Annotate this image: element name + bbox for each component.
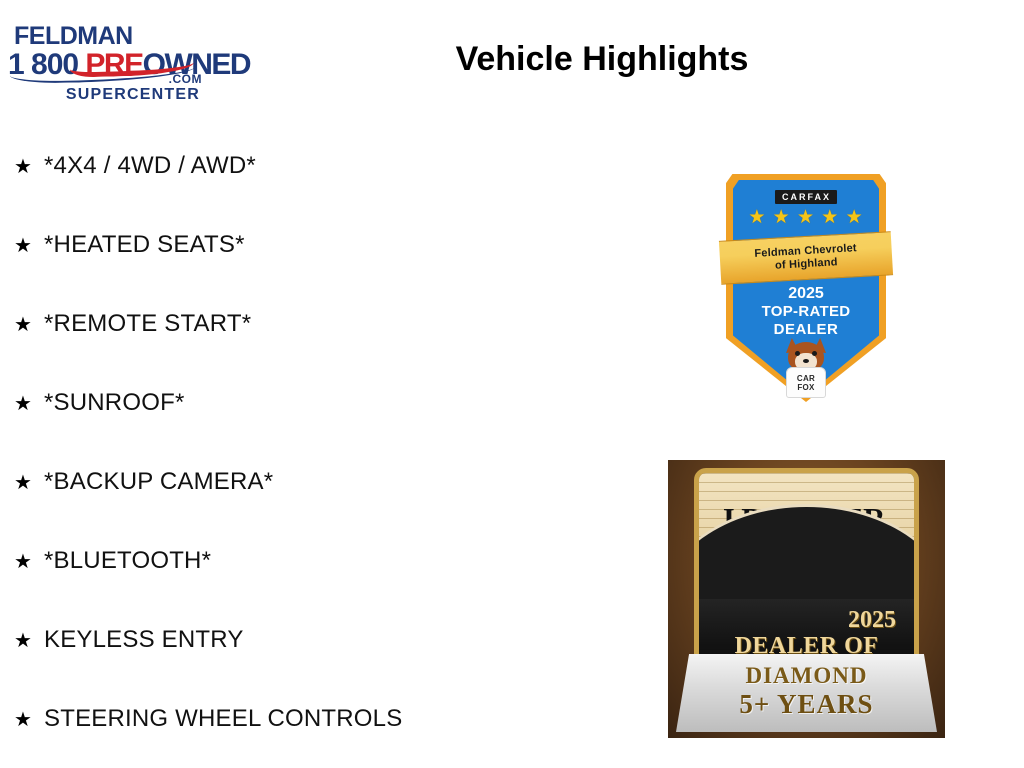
carfax-award-line2: DEALER xyxy=(726,321,886,339)
list-item-label: *HEATED SEATS* xyxy=(44,231,245,259)
jdpower-base-line1: DIAMOND xyxy=(676,663,937,689)
carfax-dealer-name-line2: of Highland xyxy=(775,256,838,272)
star-icon: ★ xyxy=(14,312,44,337)
vehicle-highlights-list: ★ *4X4 / 4WD / AWD* ★ *HEATED SEATS* ★ *… xyxy=(14,152,634,768)
star-icon: ★ xyxy=(14,470,44,495)
logo-supercenter-text: SUPERCENTER xyxy=(66,86,200,104)
jdpower-curve-divider xyxy=(699,507,914,605)
list-item: ★ KEYLESS ENTRY xyxy=(14,626,634,705)
list-item-label: STEERING WHEEL CONTROLS xyxy=(44,705,402,733)
carfox-nose xyxy=(803,359,809,363)
carfax-wordmark: CARFAX xyxy=(775,190,837,204)
list-item: ★ *SUNROOF* xyxy=(14,389,634,468)
carfax-award-line1: TOP-RATED xyxy=(726,303,886,321)
carfax-top-rated-dealer-badge: CARFAX ★ ★ ★ ★ ★ Feldman Chevrolet of Hi… xyxy=(726,174,886,402)
carfox-mascot-icon: CAR FOX xyxy=(779,340,833,398)
page-title: Vehicle Highlights xyxy=(0,40,1024,79)
jdpower-award-year: 2025 xyxy=(699,607,914,633)
star-icon: ★ xyxy=(14,391,44,416)
list-item-label: *BACKUP CAMERA* xyxy=(44,468,273,496)
star-icon: ★ xyxy=(14,549,44,574)
carfox-right-eye xyxy=(812,351,817,356)
jdpower-dealer-of-excellence-award: J.D.POWER 2025 DEALER OF EXCELLENCE DIAM… xyxy=(668,460,945,738)
vehicle-highlights-page: FELDMAN 1 800 PREOWNED .COM SUPERCENTER … xyxy=(0,0,1024,768)
carfox-shirt-line1: CAR xyxy=(779,374,833,383)
list-item: ★ STEERING WHEEL CONTROLS xyxy=(14,705,634,768)
list-item-label: *BLUETOOTH* xyxy=(44,547,211,575)
jdpower-base-line2: 5+ YEARS xyxy=(676,689,937,719)
list-item-label: KEYLESS ENTRY xyxy=(44,626,244,654)
star-icon: ★ xyxy=(14,628,44,653)
carfax-star-rating: ★ ★ ★ ★ ★ xyxy=(726,206,886,229)
list-item: ★ *BACKUP CAMERA* xyxy=(14,468,634,547)
jdpower-plaque-frame: J.D.POWER 2025 DEALER OF EXCELLENCE xyxy=(694,468,919,682)
list-item: ★ *4X4 / 4WD / AWD* xyxy=(14,152,634,231)
star-icon: ★ xyxy=(14,154,44,179)
carfax-award-year: 2025 xyxy=(726,284,886,303)
list-item: ★ *BLUETOOTH* xyxy=(14,547,634,626)
carfax-award-text: 2025 TOP-RATED DEALER xyxy=(726,284,886,339)
list-item-label: *SUNROOF* xyxy=(44,389,184,417)
star-icon: ★ xyxy=(14,233,44,258)
list-item-label: *4X4 / 4WD / AWD* xyxy=(44,152,256,180)
jdpower-plaque-base: DIAMOND 5+ YEARS xyxy=(676,654,937,732)
carfox-left-eye xyxy=(795,351,800,356)
star-icon: ★ xyxy=(14,707,44,732)
carfox-shirt-line2: FOX xyxy=(779,383,833,392)
list-item: ★ *HEATED SEATS* xyxy=(14,231,634,310)
list-item: ★ *REMOTE START* xyxy=(14,310,634,389)
jdpower-top-panel: J.D.POWER xyxy=(699,473,914,605)
carfox-shirt-text: CAR FOX xyxy=(779,374,833,392)
list-item-label: *REMOTE START* xyxy=(44,310,251,338)
